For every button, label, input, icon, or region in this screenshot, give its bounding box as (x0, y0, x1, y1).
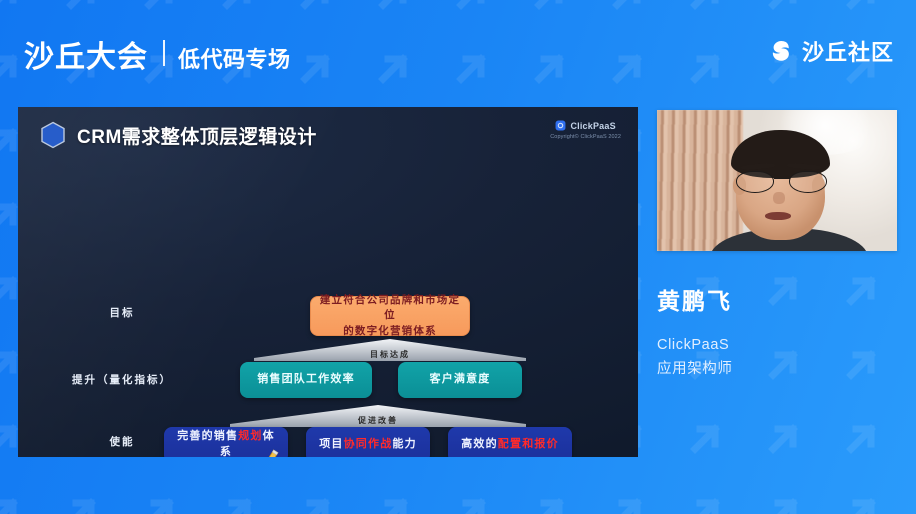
arrow-up-right-icon (526, 488, 574, 514)
row-label-goal: 目标 (74, 305, 170, 320)
enabler-2-post: 能力 (392, 438, 416, 450)
metric-node-1-label: 销售团队工作效率 (257, 372, 355, 388)
divider-improvement-label: 促进改善 (230, 415, 526, 426)
video-background-blinds (657, 110, 743, 251)
arrow-up-right-icon (838, 340, 886, 388)
enabler-node-3: 高效的配置和报价 (448, 427, 572, 457)
arrow-up-right-icon (838, 414, 886, 462)
arrow-up-right-icon (370, 488, 418, 514)
slide-watermark: ClickPaaS Copyright© ClickPaaS 2022 (550, 120, 621, 140)
goal-line-1: 建立符合公司品牌和市场定位 (320, 295, 460, 321)
goal-node: 建立符合公司品牌和市场定位 的数字化营销体系 (310, 296, 470, 336)
arrow-up-right-icon (838, 488, 886, 514)
conference-stream-frame: 沙丘大会 低代码专场 沙丘社区 CRM需求整体顶层逻辑设计 (0, 0, 916, 514)
event-brand: 沙丘大会 低代码专场 (24, 32, 291, 76)
divider-goal-achievement: 目标达成 (254, 339, 526, 361)
event-brand-subtitle: 低代码专场 (178, 42, 291, 74)
arrow-up-right-icon (760, 266, 808, 314)
goal-node-text: 建立符合公司品牌和市场定位 的数字化营销体系 (319, 293, 461, 339)
enabler-3-highlight: 配置和报价 (498, 438, 559, 450)
arrow-up-right-icon (604, 488, 652, 514)
enabler-node-1-label: 完善的销售规划体系 (172, 429, 280, 457)
glasses-bridge (774, 178, 790, 180)
watermark-brand: ClickPaaS (570, 121, 615, 131)
arrow-up-right-icon (214, 488, 262, 514)
hexagon-icon (40, 121, 66, 149)
speaker-affiliation: ClickPaaS 应用架构师 (657, 334, 733, 382)
arrow-up-right-icon (292, 488, 340, 514)
enabler-2-highlight: 协同作战 (344, 438, 393, 450)
enabler-1-highlight: 规划 (238, 430, 262, 442)
clickpaas-logo-icon (555, 120, 566, 131)
slide-title: CRM需求整体顶层逻辑设计 (77, 122, 317, 149)
speaker-video-feed (657, 110, 897, 251)
metric-node-1: 销售团队工作效率 (240, 362, 372, 398)
arrow-up-right-icon (760, 414, 808, 462)
speaker-role: 应用架构师 (657, 358, 733, 382)
stream-header: 沙丘大会 低代码专场 沙丘社区 (0, 0, 916, 97)
enabler-node-2: 项目协同作战能力 (306, 427, 430, 457)
speaker-mouth (765, 212, 791, 220)
metric-node-2-label: 客户满意度 (430, 372, 491, 388)
speaker-info: 黄鹏飞 ClickPaaS 应用架构师 (657, 282, 733, 382)
enabler-node-2-label: 项目协同作战能力 (319, 437, 417, 453)
arrow-up-right-icon (838, 266, 886, 314)
row-label-metrics: 提升（量化指标） (42, 372, 202, 387)
speaker-company: ClickPaaS (657, 334, 733, 358)
enabler-node-3-label: 高效的配置和报价 (461, 437, 559, 453)
glasses-icon (736, 171, 827, 194)
arrow-up-right-icon (0, 488, 28, 514)
glasses-lens-right (789, 171, 827, 194)
speaker-name: 黄鹏飞 (657, 282, 733, 316)
enabler-3-pre: 高效的 (461, 438, 498, 450)
divider-improvement: 促进改善 (230, 405, 526, 427)
arrow-up-right-icon (682, 488, 730, 514)
glasses-lens-left (736, 171, 774, 194)
presentation-slide: CRM需求整体顶层逻辑设计 ClickPaaS Copyright© Click… (18, 107, 638, 457)
enabler-1-pre: 完善的销售 (177, 430, 238, 442)
metric-node-2: 客户满意度 (398, 362, 522, 398)
row-label-enablers: 使能 (74, 434, 170, 449)
divider-goal-achievement-label: 目标达成 (254, 349, 526, 360)
sandhill-s-mark-icon (766, 38, 793, 65)
community-logo-label: 沙丘社区 (802, 35, 894, 67)
community-logo: 沙丘社区 (766, 35, 894, 67)
arrow-up-right-icon (760, 488, 808, 514)
arrow-up-right-icon (136, 488, 184, 514)
enabler-node-1: 完善的销售规划体系 (164, 427, 288, 457)
arrow-up-right-icon (448, 488, 496, 514)
arrow-up-right-icon (682, 414, 730, 462)
slide-header: CRM需求整体顶层逻辑设计 (40, 121, 317, 149)
event-brand-main: 沙丘大会 (24, 32, 148, 76)
goal-line-2: 的数字化营销体系 (343, 326, 437, 337)
arrow-up-right-icon (58, 488, 106, 514)
enabler-2-pre: 项目 (319, 438, 343, 450)
arrow-up-right-icon (760, 340, 808, 388)
watermark-copyright: Copyright© ClickPaaS 2022 (550, 134, 621, 140)
brand-divider (163, 40, 165, 66)
